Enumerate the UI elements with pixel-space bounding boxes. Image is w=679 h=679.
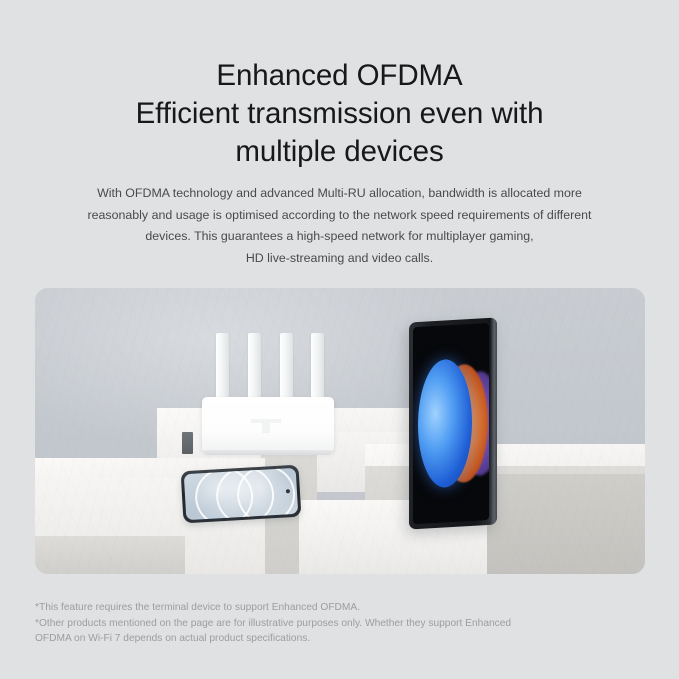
router-antenna xyxy=(311,333,324,401)
router-device xyxy=(202,333,334,455)
router-antenna xyxy=(248,333,261,401)
footnote-3: OFDMA on Wi-Fi 7 depends on actual produ… xyxy=(35,631,635,647)
description-line-2: reasonably and usage is optimised accord… xyxy=(50,205,629,227)
description-line-1: With OFDMA technology and advanced Multi… xyxy=(50,183,629,205)
tablet-screen xyxy=(413,323,489,524)
description-line-4: HD live-streaming and video calls. xyxy=(50,248,629,270)
headline-line-2: Efficient transmission even with xyxy=(0,95,679,133)
brand-logo-icon xyxy=(251,419,281,433)
product-scene-image xyxy=(35,288,645,574)
phone-device xyxy=(181,465,302,524)
router-cable-connector xyxy=(182,432,193,454)
wallpaper-circle xyxy=(235,468,296,520)
product-feature-page: Enhanced OFDMA Efficient transmission ev… xyxy=(0,0,679,679)
router-antenna xyxy=(280,333,293,401)
router-base xyxy=(204,450,332,455)
podium-block-right-top xyxy=(365,444,645,468)
headline-line-3: multiple devices xyxy=(0,133,679,171)
description-line-3: devices. This guarantees a high-speed ne… xyxy=(50,226,629,248)
tablet-device xyxy=(409,318,497,530)
phone-screen xyxy=(184,468,298,520)
headline-line-1: Enhanced OFDMA xyxy=(0,57,679,95)
footnote-2: *Other products mentioned on the page ar… xyxy=(35,616,635,632)
router-body xyxy=(202,397,334,452)
feature-description: With OFDMA technology and advanced Multi… xyxy=(50,183,629,269)
router-antenna xyxy=(216,333,229,401)
podium-block-front-face xyxy=(299,520,487,574)
page-title: Enhanced OFDMA Efficient transmission ev… xyxy=(0,57,679,171)
footnote-1: *This feature requires the terminal devi… xyxy=(35,600,635,616)
podium-block-lower-left xyxy=(35,536,185,574)
tablet-side-edge xyxy=(490,318,497,525)
footnotes: *This feature requires the terminal devi… xyxy=(35,600,635,647)
